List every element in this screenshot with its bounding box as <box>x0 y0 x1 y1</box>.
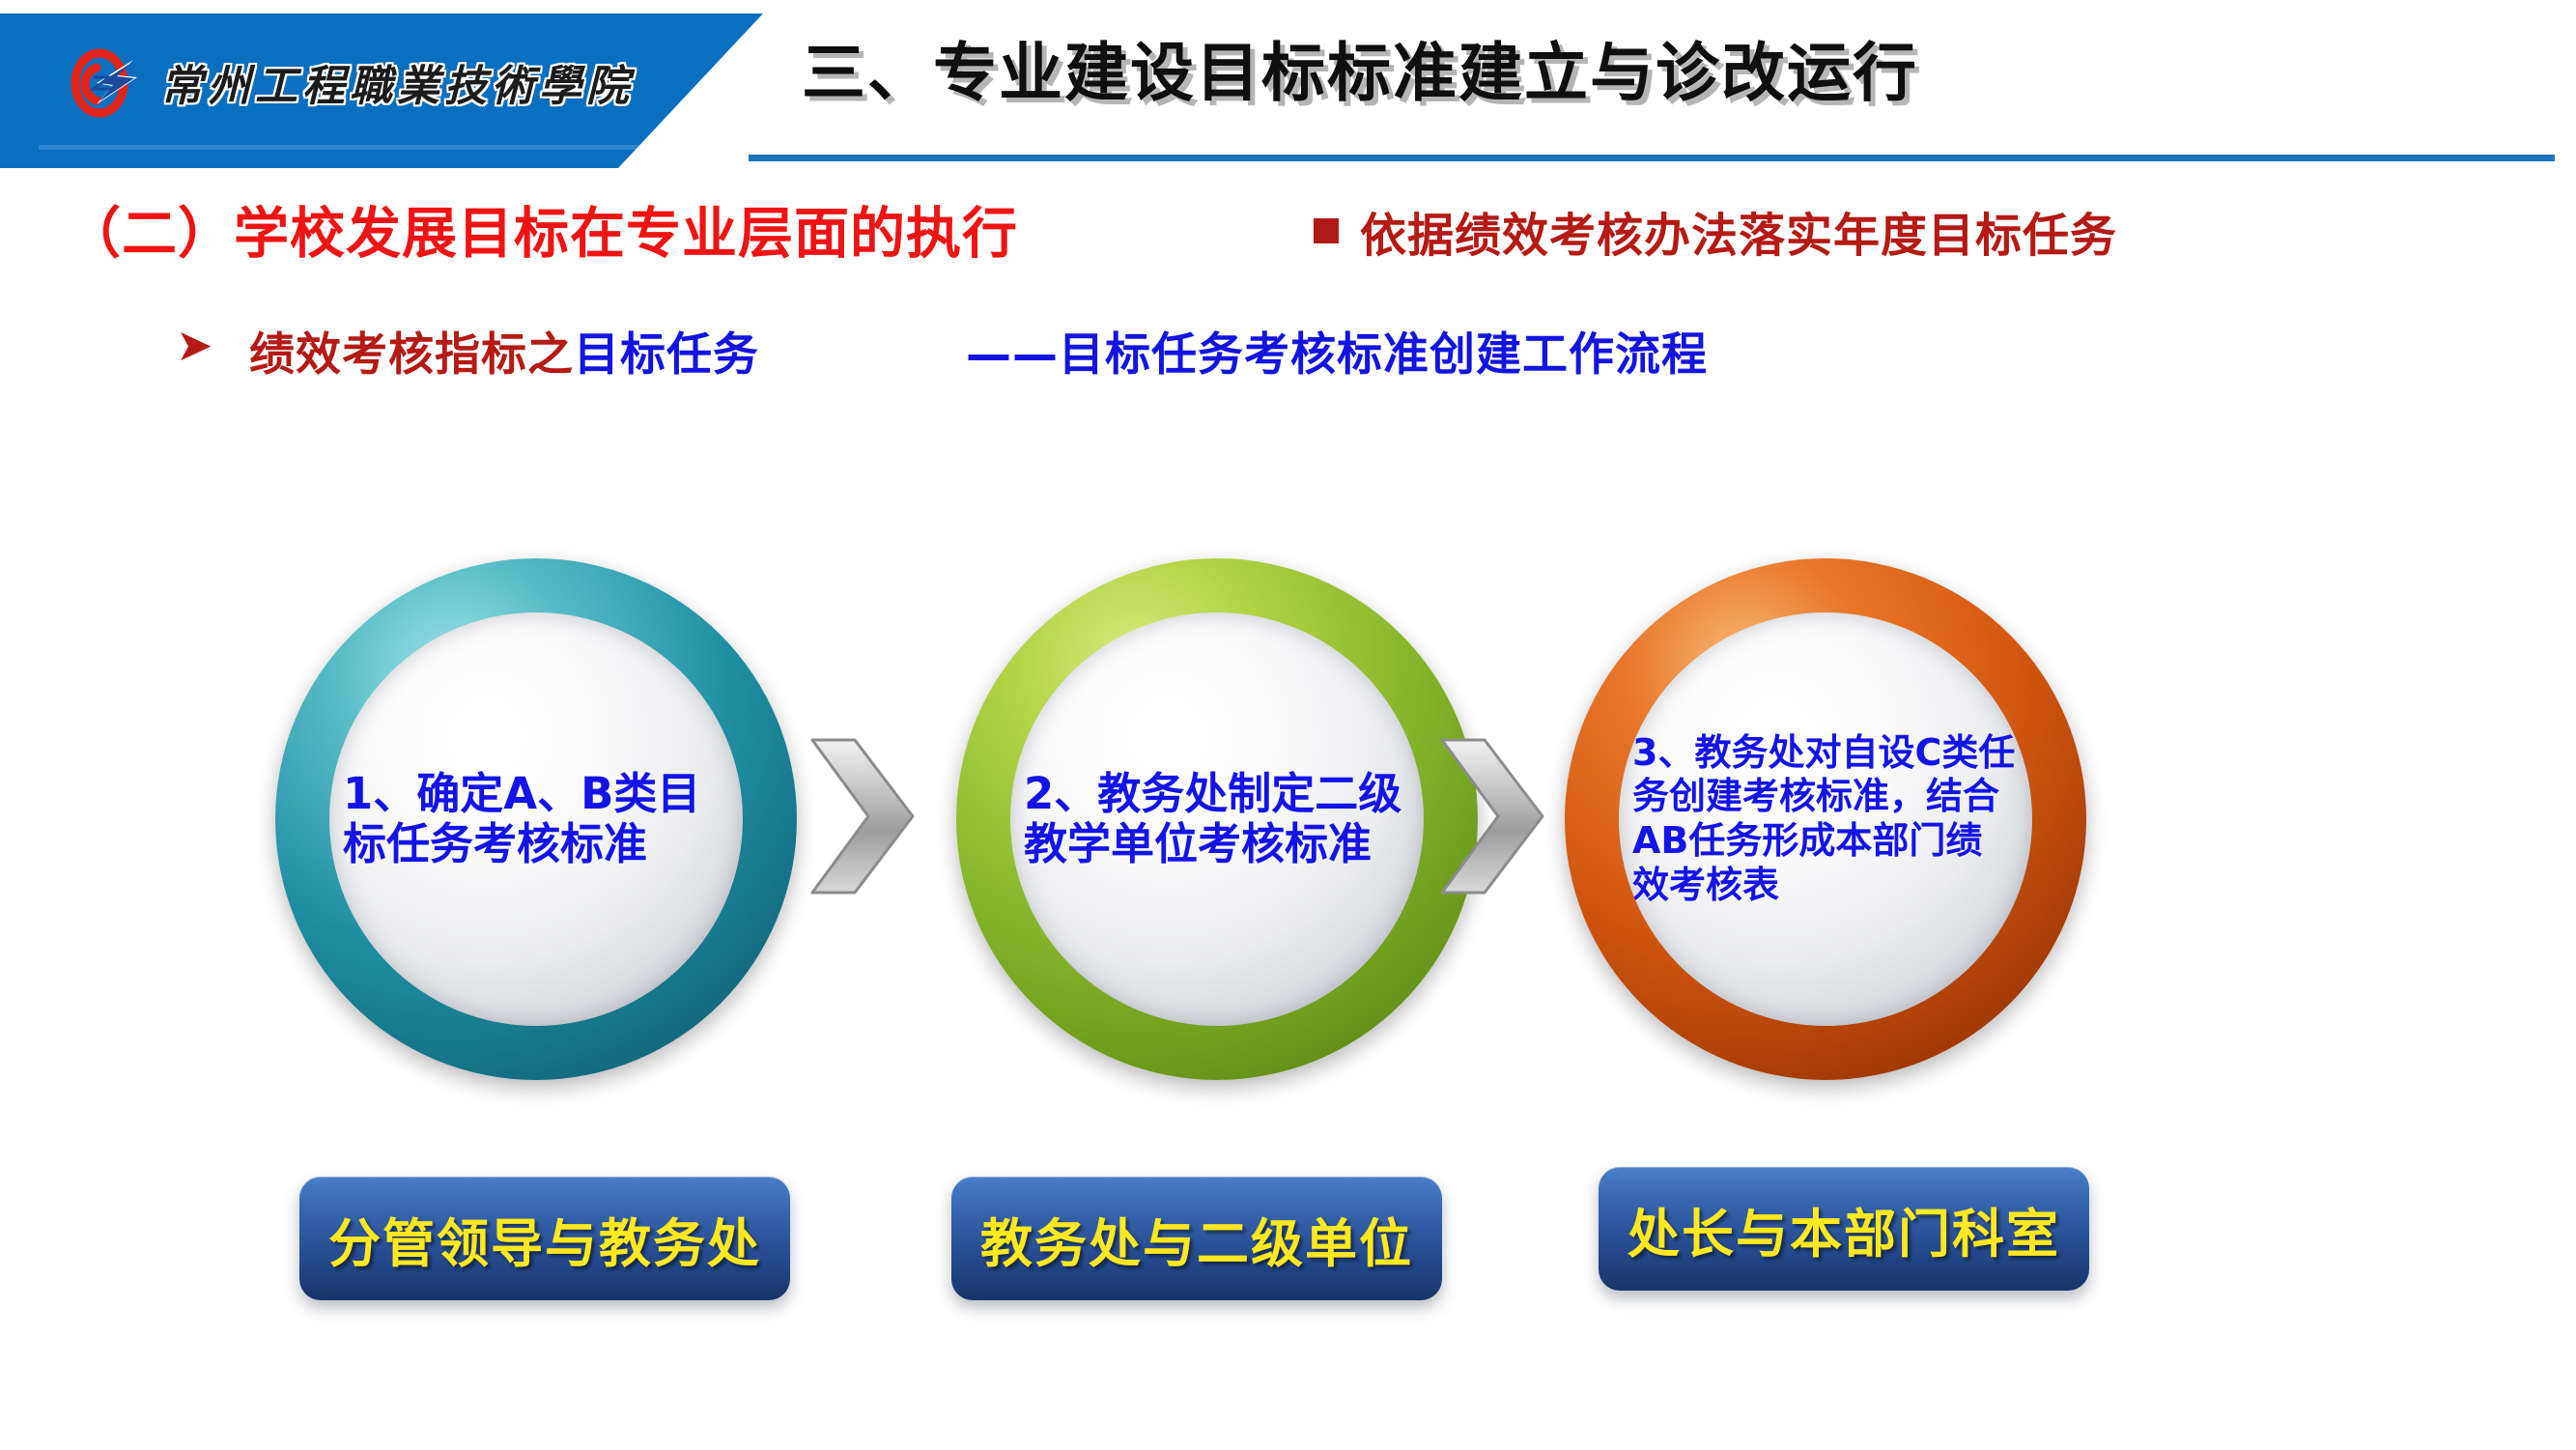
step-1-ring-face: 1、确定A、B类目标任务考核标准 <box>329 612 743 1026</box>
chevron-right-icon <box>1434 734 1550 898</box>
step-3-owner-label: 处长与本部门科室 <box>1628 1191 2060 1267</box>
step-3-ring-face: 3、教务处对自设C类任务创建考核标准，结合AB任务形成本部门绩效考核表 <box>1619 612 2032 1026</box>
process-step-circle-1[interactable]: 1、确定A、B类目标任务考核标准 <box>275 558 797 1080</box>
step-2-owner-button[interactable]: 教务处与二级单位 <box>951 1177 1442 1300</box>
step-2-label: 2、教务处制定二级教学单位考核标准 <box>1010 769 1424 869</box>
step-2-ring-face: 2、教务处制定二级教学单位考核标准 <box>1010 612 1424 1026</box>
process-step-circle-2[interactable]: 2、教务处制定二级教学单位考核标准 <box>956 558 1478 1080</box>
step-3-owner-button[interactable]: 处长与本部门科室 <box>1599 1167 2089 1291</box>
step-2-owner-label: 教务处与二级单位 <box>980 1201 1413 1277</box>
step-1-owner-button[interactable]: 分管领导与教务处 <box>299 1177 790 1300</box>
process-step-circle-3[interactable]: 3、教务处对自设C类任务创建考核标准，结合AB任务形成本部门绩效考核表 <box>1565 558 2086 1080</box>
process-flow-diagram: 1、确定A、B类目标任务考核标准 2、教务处制定二级教学单位考核标准 <box>0 0 2576 1450</box>
step-1-owner-label: 分管领导与教务处 <box>328 1201 761 1277</box>
chevron-right-icon <box>805 734 920 898</box>
step-3-label: 3、教务处对自设C类任务创建考核标准，结合AB任务形成本部门绩效考核表 <box>1619 731 2032 907</box>
step-1-label: 1、确定A、B类目标任务考核标准 <box>329 769 743 869</box>
